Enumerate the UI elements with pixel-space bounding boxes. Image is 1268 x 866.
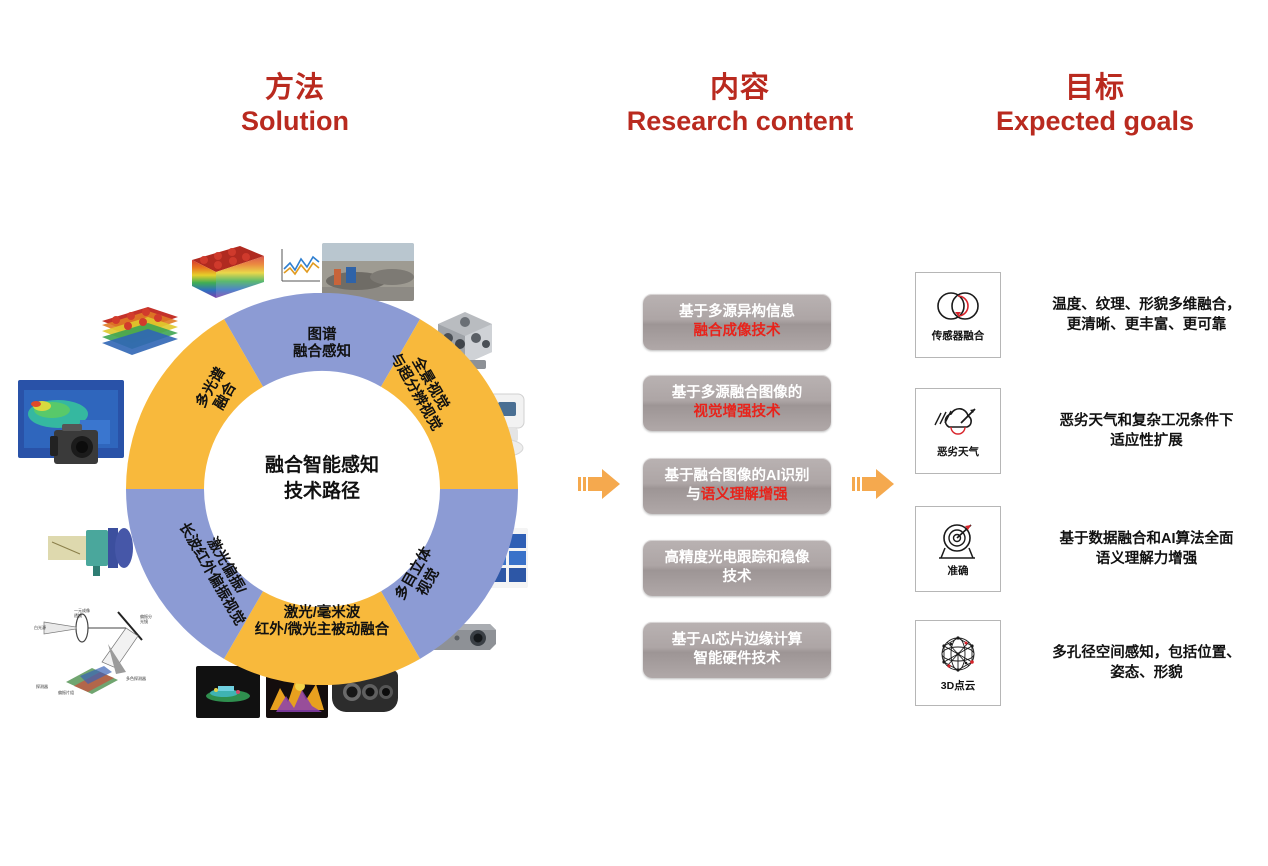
- content-box-optoelectronic-line2: 技术: [723, 569, 752, 585]
- diagram-canvas: 方法 Solution 内容 Research content 目标 Expec…: [0, 0, 1268, 866]
- content-box-visual-enhancement[interactable]: 基于多源融合图像的 视觉增强技术: [643, 375, 831, 431]
- target-dart-icon: [931, 520, 985, 560]
- goal-card-sensor-fusion[interactable]: 传感器融合: [915, 272, 1001, 358]
- column-header-goals-en: Expected goals: [955, 106, 1235, 136]
- goal-card-label-point-cloud-3d: 3D点云: [941, 678, 975, 693]
- goal-row-point-cloud-3d: 3D点云 多孔径空间感知，包括位置、 姿态、形貌: [915, 620, 1264, 706]
- goal-text-bad-weather: 恶劣天气和复杂工况条件下 适应性扩展: [1029, 411, 1264, 451]
- wheel-label-spectral-fusion-sensing: 图谱 融合感知: [262, 327, 382, 362]
- svg-text:探测器: 探测器: [36, 683, 48, 689]
- goal-row-accuracy: 准确 基于数据融合和AI算法全面 语义理解力增强: [915, 506, 1264, 592]
- goal-text-point-cloud-3d: 多孔径空间感知，包括位置、 姿态、形貌: [1029, 643, 1264, 683]
- content-box-ai-chip-edge-computing[interactable]: 基于AI芯片边缘计算 智能硬件技术: [643, 622, 831, 678]
- column-header-content-en: Research content: [600, 106, 880, 136]
- goal-card-point-cloud-3d[interactable]: 3D点云: [915, 620, 1001, 706]
- thumbnail-industrial-camera: [48, 420, 110, 472]
- content-box-optoelectronic-tracking[interactable]: 高精度光电跟踪和稳像 技术: [643, 540, 831, 596]
- column-header-solution-cn: 方法: [170, 72, 420, 104]
- content-box-fusion-imaging[interactable]: 基于多源异构信息 融合成像技术: [643, 294, 831, 350]
- content-box-ai-semantic-understanding[interactable]: 基于融合图像的AI识别 与语义理解增强: [643, 458, 831, 514]
- technology-roadmap-wheel: 图谱 融合感知 全景视觉 与超分辨视觉 多目立体 视觉 激光/毫米波 红外/微光…: [126, 293, 518, 685]
- wheel-center-title: 融合智能感知 技术路径: [222, 453, 422, 504]
- content-box-ai-semantic-line2-prefix: 与: [686, 487, 701, 503]
- content-box-visual-enhancement-line1: 基于多源融合图像的: [672, 385, 803, 401]
- content-box-optoelectronic-line1: 高精度光电跟踪和稳像: [665, 550, 810, 566]
- content-box-ai-semantic-line1: 基于融合图像的AI识别: [665, 468, 810, 484]
- goal-text-accuracy: 基于数据融合和AI算法全面 语义理解力增强: [1029, 529, 1264, 569]
- svg-text:白光源: 白光源: [34, 624, 46, 630]
- column-header-content: 内容 Research content: [600, 72, 880, 137]
- content-box-fusion-imaging-highlight: 融合成像技术: [694, 323, 781, 339]
- goal-row-bad-weather: 恶劣天气 恶劣天气和复杂工况条件下 适应性扩展: [915, 388, 1264, 474]
- goal-card-label-bad-weather: 恶劣天气: [937, 444, 979, 459]
- goal-row-sensor-fusion: 传感器融合 温度、纹理、形貌多维融合， 更清晰、更丰富、更可靠: [915, 272, 1264, 358]
- column-header-solution-en: Solution: [170, 106, 420, 136]
- goal-card-accuracy[interactable]: 准确: [915, 506, 1001, 592]
- goal-card-label-accuracy: 准确: [948, 563, 969, 578]
- column-header-goals: 目标 Expected goals: [955, 72, 1235, 137]
- content-box-fusion-imaging-line1: 基于多源异构信息: [679, 304, 795, 320]
- column-header-goals-cn: 目标: [955, 72, 1235, 104]
- svg-text:偏振片组: 偏振片组: [58, 689, 74, 695]
- column-header-solution: 方法 Solution: [170, 72, 420, 137]
- goal-text-sensor-fusion: 温度、纹理、形貌多维融合， 更清晰、更丰富、更可靠: [1029, 295, 1264, 335]
- svg-text:一元成像透镜: 一元成像透镜: [74, 607, 90, 618]
- point-cloud-sphere-icon: [933, 633, 983, 675]
- column-header-content-cn: 内容: [600, 72, 880, 104]
- content-box-visual-enhancement-highlight: 视觉增强技术: [694, 404, 781, 420]
- goal-card-bad-weather[interactable]: 恶劣天气: [915, 388, 1001, 474]
- venn-circles-icon: [931, 287, 985, 325]
- content-box-ai-semantic-highlight: 语义理解增强: [701, 487, 788, 503]
- thumbnail-spectral-curve-plot: [272, 243, 324, 293]
- content-box-ai-chip-line2: 智能硬件技术: [694, 651, 781, 667]
- arrow-content-to-goals: [852, 462, 898, 506]
- content-box-ai-chip-line1: 基于AI芯片边缘计算: [672, 632, 803, 648]
- goal-card-label-sensor-fusion: 传感器融合: [932, 328, 985, 343]
- rain-cloud-icon: [931, 403, 985, 441]
- arrow-solution-to-content: [578, 462, 624, 506]
